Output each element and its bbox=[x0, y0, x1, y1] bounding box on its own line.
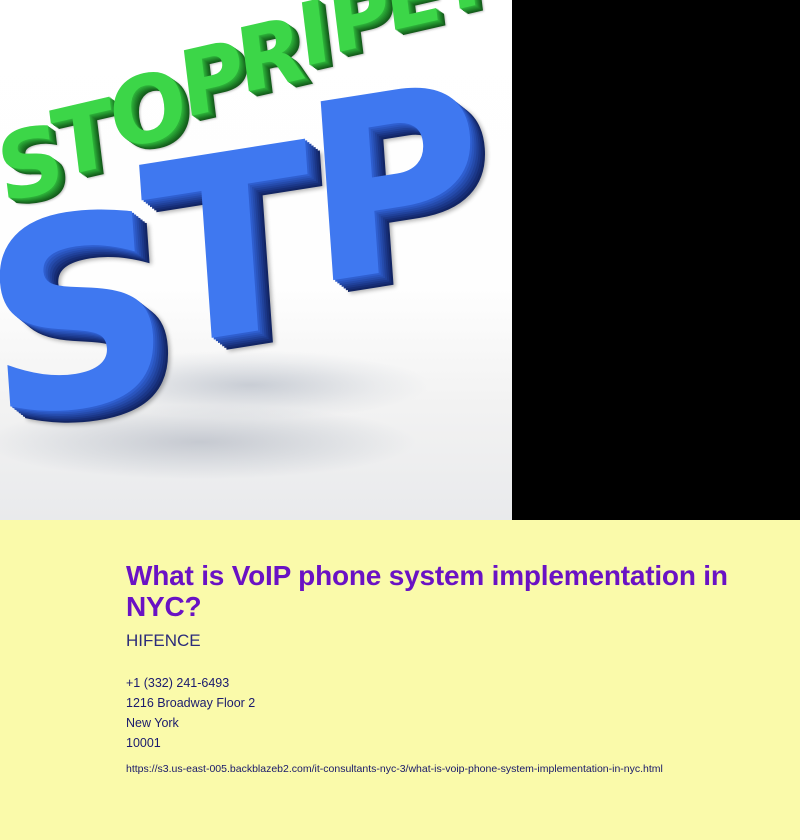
info-panel: What is VoIP phone system implementation… bbox=[0, 520, 800, 840]
source-url[interactable]: https://s3.us-east-005.backblazeb2.com/i… bbox=[126, 763, 776, 775]
info-content: What is VoIP phone system implementation… bbox=[126, 560, 776, 775]
brand-name: HIFENCE bbox=[126, 631, 776, 651]
page-root: S T O P R I P E T T I S T P What is VoIP bbox=[0, 0, 800, 840]
blue-letter: P bbox=[296, 48, 491, 321]
contact-address-line1: 1216 Broadway Floor 2 bbox=[126, 693, 776, 713]
hero-image-region: S T O P R I P E T T I S T P bbox=[0, 0, 800, 520]
green-letter: T bbox=[431, 0, 497, 26]
contact-zip: 10001 bbox=[126, 733, 776, 753]
blue-letter: T bbox=[136, 110, 322, 387]
stp-3d-letters-image: S T O P R I P E T T I S T P bbox=[0, 0, 512, 520]
contact-city: New York bbox=[126, 713, 776, 733]
contact-phone: +1 (332) 241-6493 bbox=[126, 673, 776, 693]
page-title: What is VoIP phone system implementation… bbox=[126, 560, 776, 623]
